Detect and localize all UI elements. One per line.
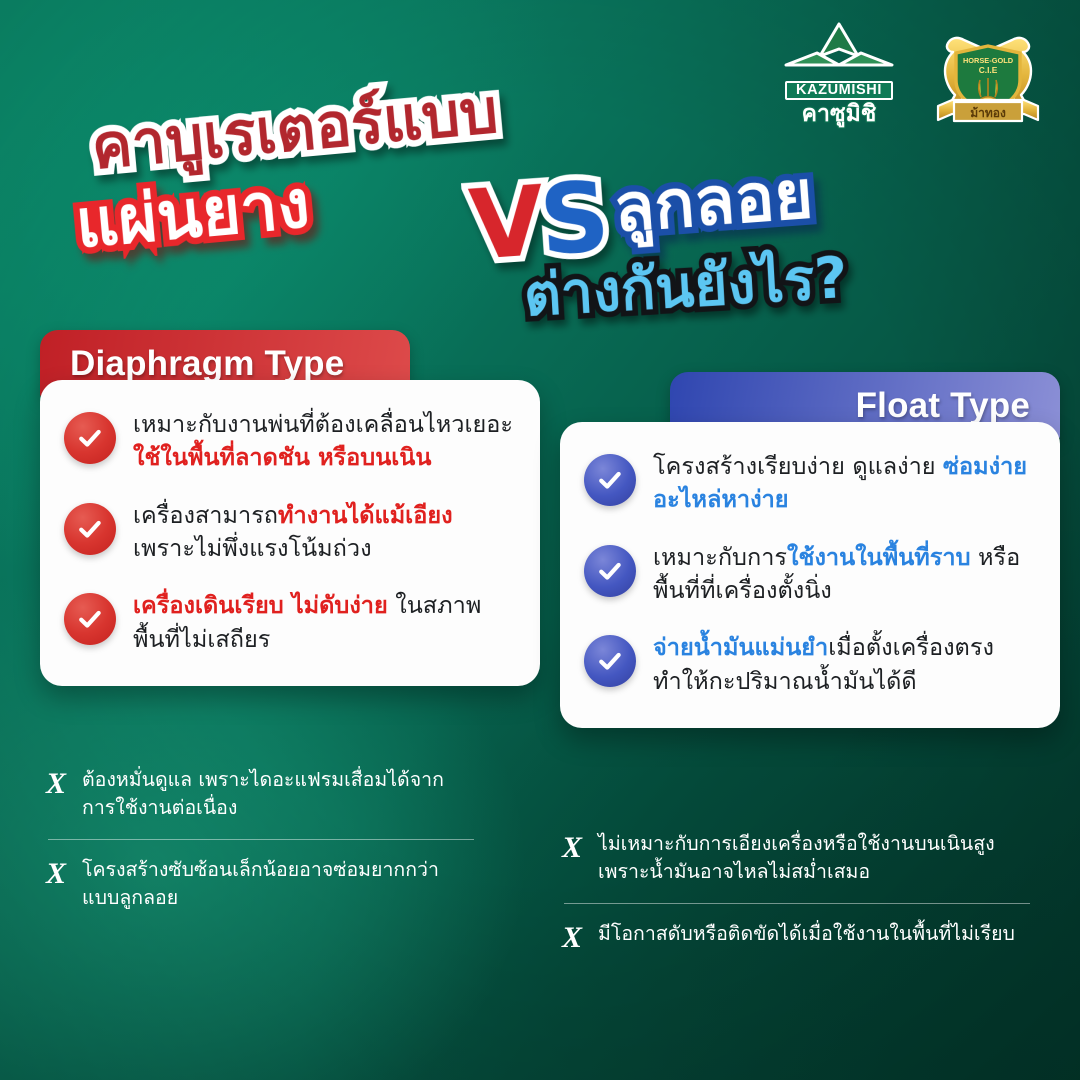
check-circle-icon: [584, 454, 636, 506]
cons-list-float: Xไม่เหมาะกับการเอียงเครื่องหรือใช้งานบนเ…: [560, 826, 1030, 965]
kazumishi-mountain-icon: [783, 22, 895, 80]
pro-item: เหมาะกับการใช้งานในพื้นที่ราบ หรือพื้นที…: [584, 539, 1034, 608]
con-item-text: ไม่เหมาะกับการเอียงเครื่องหรือใช้งานบนเน…: [598, 830, 1030, 887]
panel-float-pros-list: โครงสร้างเรียบง่าย ดูแลง่าย ซ่อมง่าย อะไ…: [584, 448, 1034, 698]
pro-item-text: โครงสร้างเรียบง่าย ดูแลง่าย ซ่อมง่าย อะไ…: [653, 448, 1034, 517]
check-icon: [596, 647, 624, 675]
kazumishi-wordmark: KAZUMISHI: [785, 81, 893, 100]
pro-item-text: เครื่องสามารถทำงานได้แม้เอียง เพราะไม่พึ…: [133, 497, 514, 566]
pro-item: เครื่องสามารถทำงานได้แม้เอียง เพราะไม่พึ…: [64, 497, 514, 566]
panel-float: Float Type โครงสร้างเรียบง่าย ดูแลง่าย ซ…: [560, 372, 1060, 728]
panel-diaphragm-title: Diaphragm Type: [70, 344, 344, 384]
pro-item-text: จ่ายน้ำมันแม่นยำเมื่อตั้งเครื่องตรง ทำให…: [653, 629, 1034, 698]
pro-text-plain: เครื่องสามารถ: [133, 501, 278, 529]
pro-item: โครงสร้างเรียบง่าย ดูแลง่าย ซ่อมง่าย อะไ…: [584, 448, 1034, 517]
check-circle-icon: [64, 503, 116, 555]
check-icon: [76, 515, 104, 543]
pro-text-plain: เหมาะกับงานพ่นที่ต้องเคลื่อนไหวเยอะ: [133, 410, 513, 438]
horse-shield-top-text: HORSE-GOLD: [963, 56, 1014, 65]
pro-text-highlight: ทำงานได้แม้เอียง: [278, 501, 453, 529]
cons-divider: [564, 903, 1030, 904]
con-item: Xไม่เหมาะกับการเอียงเครื่องหรือใช้งานบนเ…: [560, 826, 1030, 897]
check-icon: [76, 605, 104, 633]
headline-line-2: แผ่นยาง: [73, 171, 312, 258]
pro-text-plain: เพราะไม่พึ่งแรงโน้มถ่วง: [133, 534, 372, 562]
horse-shield-sub-text: C.I.E: [979, 65, 998, 75]
cross-mark-icon: X: [44, 856, 66, 891]
pro-item: จ่ายน้ำมันแม่นยำเมื่อตั้งเครื่องตรง ทำให…: [584, 629, 1034, 698]
cross-mark-icon: X: [560, 830, 582, 865]
check-circle-icon: [584, 635, 636, 687]
brand-logo-group: KAZUMISHI คาซูมิชิ HORSE-GOLD C.I.E ม้า: [780, 22, 1052, 134]
horse-banner-text: ม้าทอง: [970, 106, 1006, 120]
con-item: Xต้องหมั่นดูแล เพราะไดอะแฟรมเสื่อมได้จาก…: [44, 762, 474, 833]
pro-text-highlight: ใช้ในพื้นที่ลาดชัน หรือบนเนิน: [133, 443, 431, 471]
con-item-text: ต้องหมั่นดูแล เพราะไดอะแฟรมเสื่อมได้จากก…: [82, 766, 474, 823]
headline-line-4: ต่างกันยังไร?: [522, 250, 849, 325]
panel-diaphragm: Diaphragm Type เหมาะกับงานพ่นที่ต้องเคลื…: [40, 330, 540, 686]
pro-text-highlight: จ่ายน้ำมันแม่นยำ: [653, 633, 828, 661]
horse-gold-logo: HORSE-GOLD C.I.E ม้าทอง: [924, 22, 1052, 134]
cross-mark-icon: X: [560, 920, 582, 955]
panel-diaphragm-card: เหมาะกับงานพ่นที่ต้องเคลื่อนไหวเยอะ ใช้ใ…: [40, 380, 540, 686]
check-icon: [76, 424, 104, 452]
pro-text-highlight: ใช้งานในพื้นที่ราบ: [787, 543, 970, 571]
check-icon: [596, 557, 624, 585]
con-item: Xโครงสร้างซับซ้อนเล็กน้อยอาจซ่อมยากกว่าแ…: [44, 852, 474, 923]
panel-float-title: Float Type: [856, 386, 1030, 426]
kazumishi-logo: KAZUMISHI คาซูมิชิ: [780, 22, 898, 126]
pro-text-highlight: เครื่องเดินเรียบ ไม่ดับง่าย: [133, 591, 388, 619]
headline-line-3: ลูกลอย: [612, 162, 815, 242]
headline-vs: VS: [467, 169, 609, 274]
con-item-text: มีโอกาสดับหรือติดขัดได้เมื่อใช้งานในพื้น…: [598, 920, 1015, 948]
panel-diaphragm-pros-list: เหมาะกับงานพ่นที่ต้องเคลื่อนไหวเยอะ ใช้ใ…: [64, 406, 514, 656]
headline-line-1: คาบูเรเตอร์แบบ: [89, 81, 500, 178]
panel-float-card: โครงสร้างเรียบง่าย ดูแลง่าย ซ่อมง่าย อะไ…: [560, 422, 1060, 728]
kazumishi-wordmark-text: KAZUMISHI: [796, 83, 882, 98]
pro-text-plain: เหมาะกับการ: [653, 543, 787, 571]
pro-item-text: เหมาะกับการใช้งานในพื้นที่ราบ หรือพื้นที…: [653, 539, 1034, 608]
con-item: Xมีโอกาสดับหรือติดขัดได้เมื่อใช้งานในพื้…: [560, 916, 1030, 965]
check-circle-icon: [64, 412, 116, 464]
check-circle-icon: [584, 545, 636, 597]
pro-item-text: เครื่องเดินเรียบ ไม่ดับง่าย ในสภาพพื้นที…: [133, 587, 514, 656]
cons-list-diaphragm: Xต้องหมั่นดูแล เพราะไดอะแฟรมเสื่อมได้จาก…: [44, 762, 474, 922]
check-circle-icon: [64, 593, 116, 645]
pro-text-plain: โครงสร้างเรียบง่าย ดูแลง่าย: [653, 452, 943, 480]
cons-divider: [48, 839, 474, 840]
pro-item-text: เหมาะกับงานพ่นที่ต้องเคลื่อนไหวเยอะ ใช้ใ…: [133, 406, 514, 475]
kazumishi-thai-name: คาซูมิชิ: [802, 103, 877, 126]
pro-item: เหมาะกับงานพ่นที่ต้องเคลื่อนไหวเยอะ ใช้ใ…: [64, 406, 514, 475]
check-icon: [596, 466, 624, 494]
con-item-text: โครงสร้างซับซ้อนเล็กน้อยอาจซ่อมยากกว่าแบ…: [82, 856, 474, 913]
cross-mark-icon: X: [44, 766, 66, 801]
pro-item: เครื่องเดินเรียบ ไม่ดับง่าย ในสภาพพื้นที…: [64, 587, 514, 656]
